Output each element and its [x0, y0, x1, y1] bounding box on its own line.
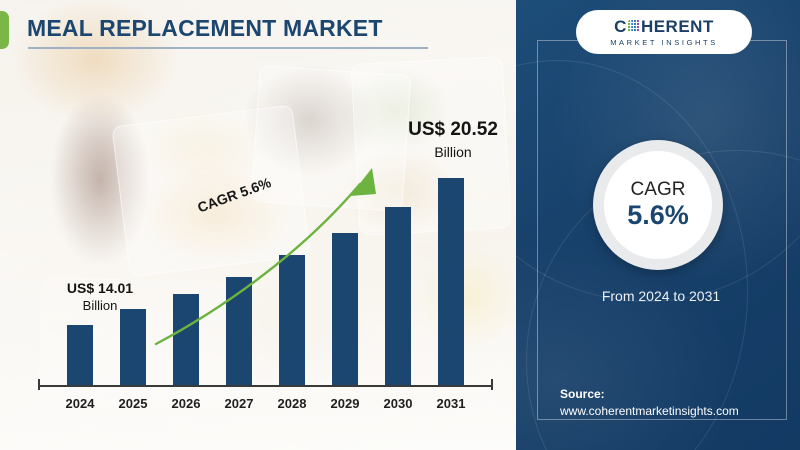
- brand-logo-tagline: MARKET INSIGHTS: [610, 38, 718, 47]
- x-axis-left-cap: [38, 379, 40, 390]
- source-url[interactable]: www.coherentmarketinsights.com: [560, 403, 790, 420]
- end-value-unit: Billion: [378, 143, 516, 161]
- infographic-root: MEAL REPLACEMENT MARKET 2024 2025 2026 2…: [0, 0, 800, 450]
- source-label: Source:: [560, 386, 790, 403]
- x-tick-2024: 2024: [50, 396, 110, 411]
- x-axis-right-cap: [491, 379, 493, 390]
- brand-logo-rest: HERENT: [641, 18, 714, 35]
- cagr-value: 5.6%: [627, 201, 689, 231]
- brand-logo-wordmark: C HERENT: [614, 18, 714, 35]
- start-value-callout: US$ 14.01 Billion: [40, 280, 160, 314]
- forecast-range: From 2024 to 2031: [537, 288, 785, 304]
- cagr-badge: CAGR 5.6%: [593, 140, 723, 270]
- brand-panel: C HERENT MARKET INSIGHTS CAGR 5.6% From …: [516, 0, 800, 450]
- x-tick-2028: 2028: [262, 396, 322, 411]
- x-tick-2025: 2025: [103, 396, 163, 411]
- x-tick-2027: 2027: [209, 396, 269, 411]
- x-tick-2026: 2026: [156, 396, 216, 411]
- brand-logo[interactable]: C HERENT MARKET INSIGHTS: [576, 10, 752, 54]
- pixel-globe-icon: [628, 20, 640, 32]
- brand-logo-c: C: [614, 18, 627, 35]
- start-value-unit: Billion: [40, 298, 160, 314]
- bar-2024: [67, 325, 93, 385]
- bar-2025: [120, 309, 146, 385]
- x-tick-2031: 2031: [421, 396, 481, 411]
- bar-chart: 2024 2025 2026 2027 2028 2029 2030 2031 …: [0, 0, 516, 450]
- x-axis-line: [38, 385, 493, 387]
- end-value-callout: US$ 20.52 Billion: [378, 118, 516, 161]
- x-tick-2029: 2029: [315, 396, 375, 411]
- x-tick-2030: 2030: [368, 396, 428, 411]
- cagr-badge-inner: CAGR 5.6%: [604, 151, 712, 259]
- end-value-amount: US$ 20.52: [378, 118, 516, 143]
- cagr-label: CAGR: [631, 180, 686, 199]
- bar-2031: [438, 178, 464, 385]
- start-value-amount: US$ 14.01: [40, 280, 160, 298]
- source-block: Source: www.coherentmarketinsights.com: [560, 386, 790, 421]
- chart-pane: MEAL REPLACEMENT MARKET 2024 2025 2026 2…: [0, 0, 516, 450]
